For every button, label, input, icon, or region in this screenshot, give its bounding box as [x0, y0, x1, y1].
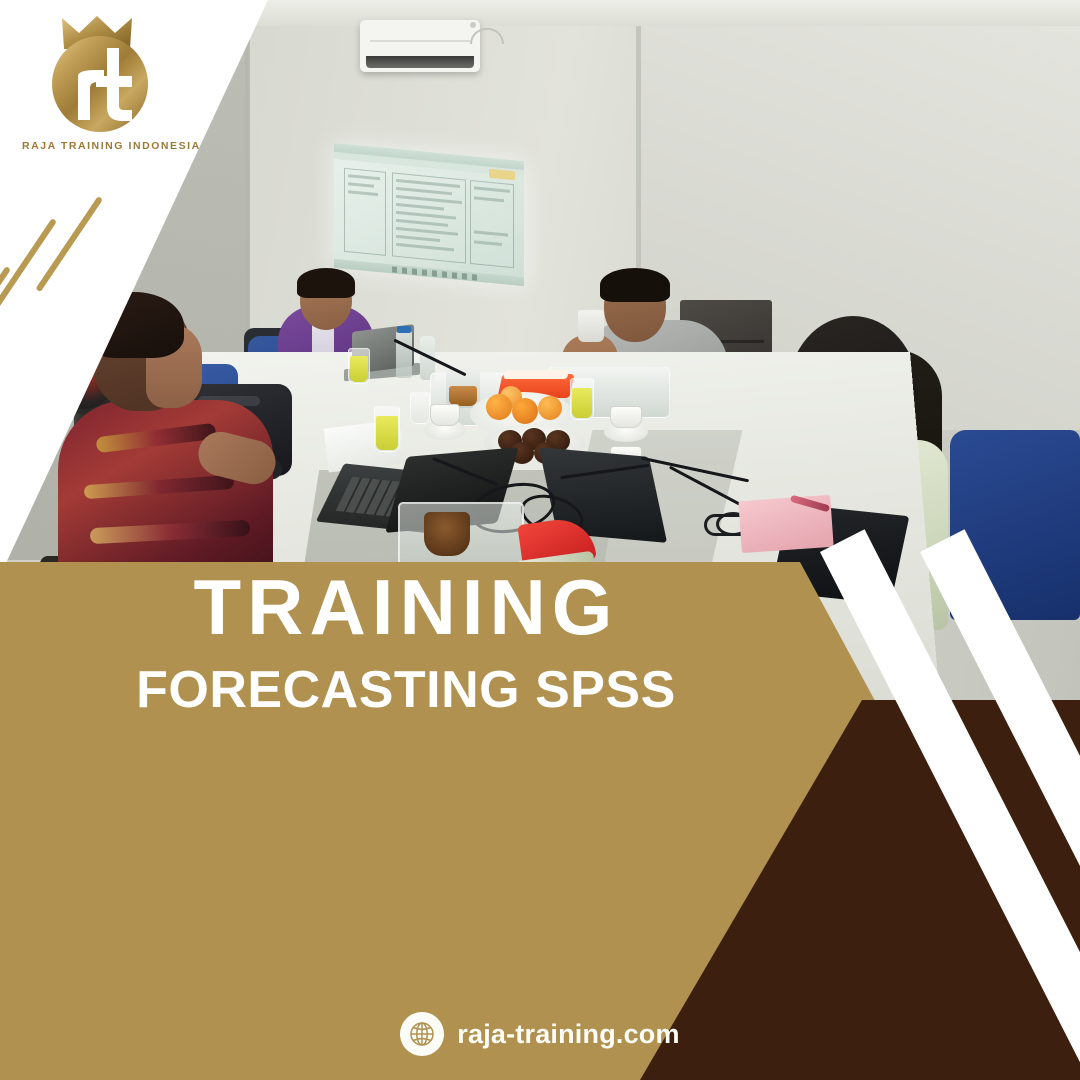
rt-monogram-icon: [52, 36, 148, 132]
projection-screen: [334, 143, 524, 286]
brand-logo: RAJA TRAINING INDONESIA: [22, 18, 172, 152]
footer-website: raja-training.com: [0, 1012, 1080, 1056]
poster-canvas: RAJA TRAINING INDONESIA TRAINING FORECAS…: [0, 0, 1080, 1080]
page-title: TRAINING: [0, 568, 812, 646]
brand-tagline: RAJA TRAINING INDONESIA: [22, 140, 172, 152]
globe-icon: [400, 1012, 444, 1056]
website-url: raja-training.com: [457, 1019, 679, 1050]
page-subtitle: FORECASTING SPSS: [0, 664, 812, 716]
